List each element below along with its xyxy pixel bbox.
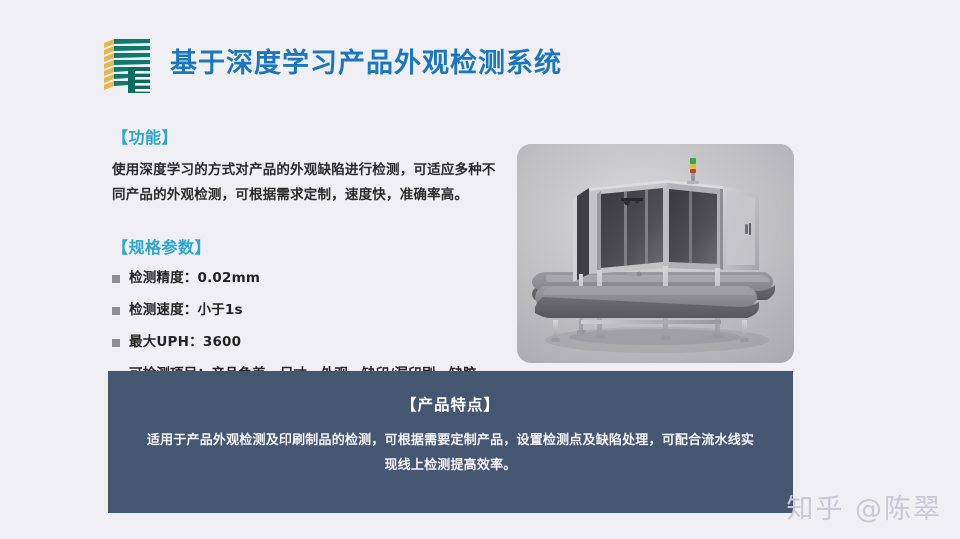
list-item: 最大UPH：3600 — [112, 332, 502, 353]
function-section-body: 使用深度学习的方式对产品的外观缺陷进行检测，可适应多种不同产品的外观检测，可根据… — [112, 158, 502, 208]
square-bullet-icon — [112, 275, 120, 283]
function-section: 【功能】 使用深度学习的方式对产品的外观缺陷进行检测，可适应多种不同产品的外观检… — [112, 124, 502, 208]
page-title: 基于深度学习产品外观检测系统 — [170, 50, 562, 79]
zhihu-watermark: 知乎 @陈翠 — [786, 487, 942, 526]
square-bullet-icon — [112, 339, 120, 347]
spec-section-heading: 【规格参数】 — [112, 234, 502, 258]
inspection-machine-photo — [517, 144, 794, 363]
spec-item-label: 最大UPH：3600 — [129, 332, 241, 353]
spec-item-label: 检测精度：0.02mm — [129, 268, 260, 289]
list-item: 检测精度：0.02mm — [112, 268, 502, 289]
feature-panel-title: 【产品特点】 — [146, 393, 755, 415]
slide-canvas: 基于深度学习产品外观检测系统 【功能】 使用深度学习的方式对产品的外观缺陷进行检… — [0, 0, 960, 539]
list-item: 检测速度：小于1s — [112, 300, 502, 321]
product-features-panel: 【产品特点】 适用于产品外观检测及印刷制品的检测，可根据需要定制产品，设置检测点… — [108, 371, 793, 513]
square-bullet-icon — [112, 307, 120, 315]
spec-item-label: 检测速度：小于1s — [129, 300, 243, 321]
slide-header: 基于深度学习产品外观检测系统 — [98, 33, 562, 95]
feature-panel-text: 适用于产品外观检测及印刷制品的检测，可根据需要定制产品，设置检测点及缺陷处理，可… — [146, 428, 755, 479]
stacked-books-building-logo-icon — [98, 33, 156, 95]
function-section-heading: 【功能】 — [112, 124, 502, 148]
